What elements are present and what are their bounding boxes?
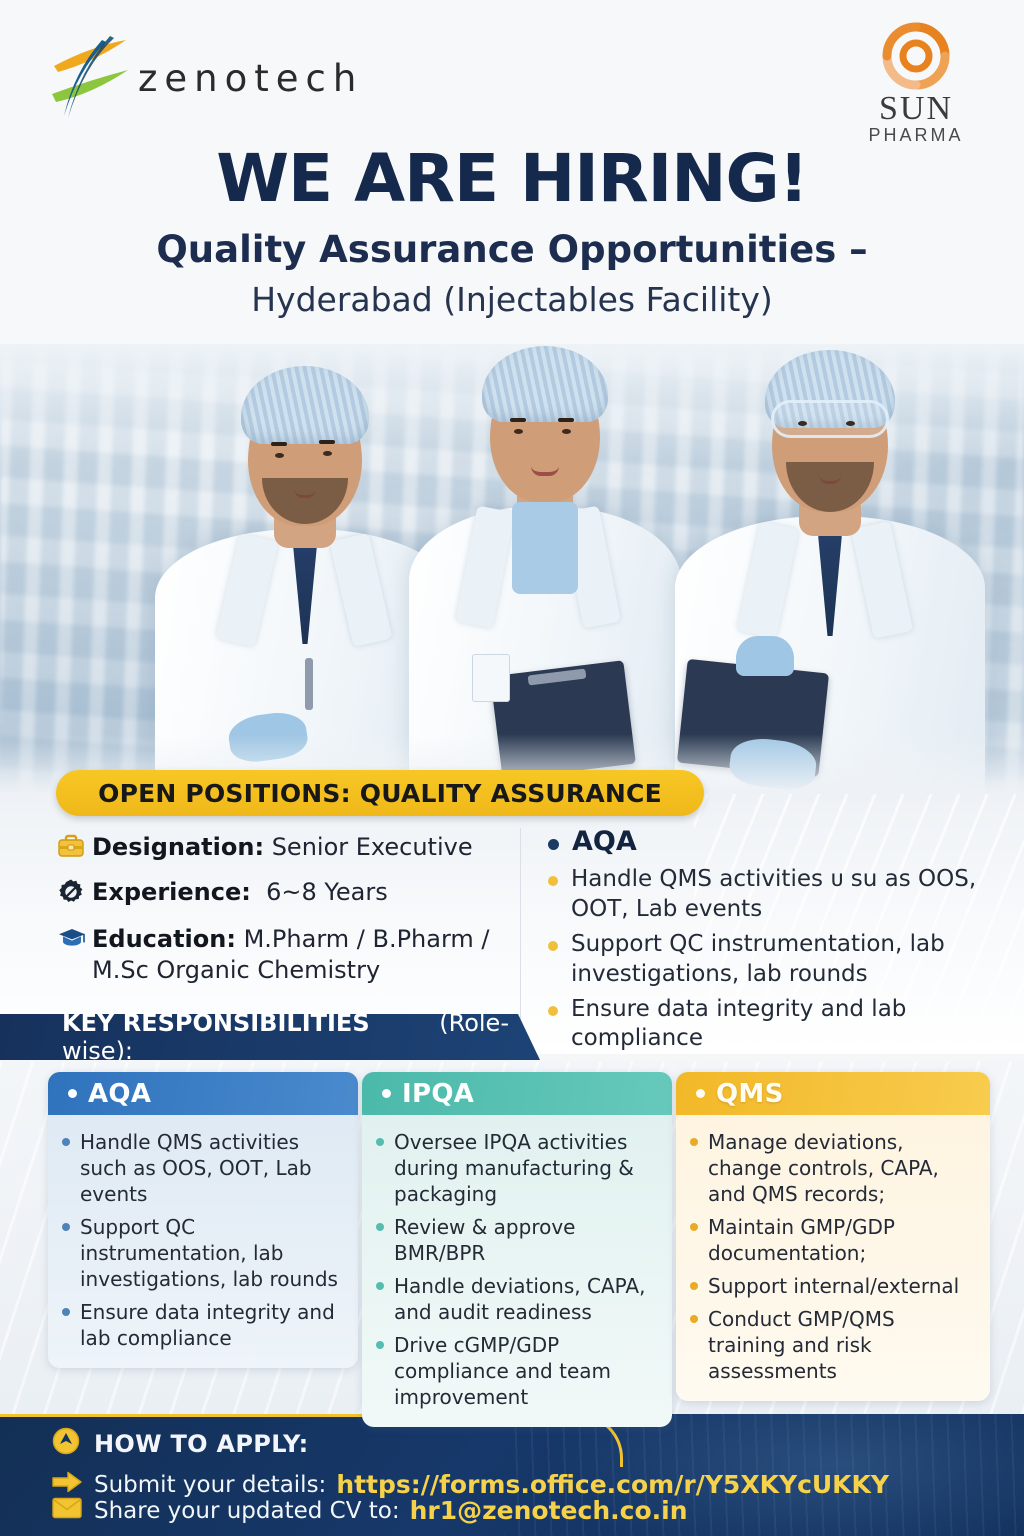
envelope-icon: [52, 1497, 94, 1524]
card-body-aqa: Handle QMS activities such as OOS, OOT, …: [48, 1115, 358, 1368]
how-to-apply-heading: HOW TO APPLY:: [94, 1430, 309, 1458]
list-item-text: Ensure data integrity and lab compliance: [80, 1299, 346, 1351]
page-subtitle-line2: Hyderabad (Injectables Facility): [0, 280, 1024, 319]
poster-header: zenotech SUN PHARMA WE ARE HIRING! Quali…: [0, 0, 1024, 344]
list-item-text: Handle QMS activities such as OOS, OOT, …: [80, 1129, 346, 1207]
bullet-dot-icon: [68, 1089, 77, 1098]
responsibility-card-ipqa: IPQA Oversee IPQA activities during manu…: [362, 1072, 672, 1427]
key-responsibilities-banner: KEY RESPONSIBILITIES (Role-wise):: [0, 1014, 540, 1060]
detail-value-experience: 6~8 Years: [266, 878, 388, 906]
open-positions-role-block: AQA Handle QMS activities ᴜ su as OOS, O…: [548, 826, 1010, 1059]
right-arrow-icon: [52, 1471, 94, 1498]
list-item-text: Maintain GMP/GDP documentation;: [708, 1214, 978, 1266]
bullet-dot-icon: [548, 941, 558, 951]
sun-pharma-logo: SUN PHARMA: [850, 18, 982, 142]
open-positions-banner: OPEN POSITIONS: QUALITY ASSURANCE: [56, 770, 704, 816]
zenotech-wordmark: zenotech: [138, 57, 363, 100]
detail-label-designation: Designation:: [92, 833, 264, 861]
share-cv-row: Share your updated CV to: hr1@zenotech.c…: [52, 1496, 688, 1525]
list-item: Oversee IPQA activities during manufactu…: [376, 1129, 660, 1207]
responsibility-card-aqa: AQA Handle QMS activities such as OOS, O…: [48, 1072, 358, 1368]
bullet-dot-icon: [548, 839, 559, 850]
graduation-cap-icon: [58, 924, 92, 955]
page-title: WE ARE HIRING!: [0, 140, 1024, 217]
bullet-dot-icon: [376, 1223, 384, 1231]
bullet-dot-icon: [696, 1089, 705, 1098]
role-point-text: Support QC instrumentation, lab investig…: [571, 930, 1010, 990]
page-subtitle-line1: Quality Assurance Opportunities –: [0, 228, 1024, 271]
submit-details-row: Submit your details: https://forms.offic…: [52, 1470, 889, 1499]
card-header-ipqa: IPQA: [362, 1072, 672, 1115]
column-divider: [520, 828, 521, 1034]
how-to-apply-heading-row: HOW TO APPLY:: [52, 1427, 309, 1460]
zenotech-mark-icon: [44, 36, 136, 120]
detail-text-experience: Experience: 6~8 Years: [92, 877, 388, 908]
list-item-text: Drive cGMP/GDP compliance and team impro…: [394, 1332, 660, 1410]
role-point-text: Handle QMS activities ᴜ su as OOS, OOT, …: [571, 865, 1010, 925]
bullet-dot-icon: [62, 1223, 70, 1231]
bullet-dot-icon: [62, 1138, 70, 1146]
person-right: [670, 354, 990, 794]
list-item-text: Handle deviations, CAPA, and audit readi…: [394, 1273, 660, 1325]
list-item-text: Conduct GMP/QMS training and risk assess…: [708, 1306, 978, 1384]
bullet-dot-icon: [376, 1138, 384, 1146]
position-details-list: Designation: Senior Executive Experience…: [58, 832, 510, 999]
gear-icon: [58, 877, 92, 910]
up-arrow-circle-icon: [52, 1427, 94, 1460]
detail-value-designation: Senior Executive: [272, 833, 473, 861]
card-header-aqa: AQA: [48, 1072, 358, 1115]
hiring-poster: zenotech SUN PHARMA WE ARE HIRING! Quali…: [0, 0, 1024, 1536]
list-item-text: Oversee IPQA activities during manufactu…: [394, 1129, 660, 1207]
role-title-row: AQA: [548, 826, 1010, 857]
sun-pharma-name: SUN: [850, 92, 982, 126]
bullet-dot-icon: [690, 1223, 698, 1231]
bullet-dot-icon: [382, 1089, 391, 1098]
card-body-ipqa: Oversee IPQA activities during manufactu…: [362, 1115, 672, 1427]
responsibility-card-qms: QMS Manage deviations, change controls, …: [676, 1072, 990, 1401]
bullet-dot-icon: [376, 1341, 384, 1349]
role-point: Handle QMS activities ᴜ su as OOS, OOT, …: [548, 865, 1010, 925]
list-item: Support QC instrumentation, lab investig…: [62, 1214, 346, 1292]
bullet-dot-icon: [548, 1006, 558, 1016]
role-title: AQA: [572, 826, 637, 857]
briefcase-icon: [58, 832, 92, 863]
list-item-text: Support QC instrumentation, lab investig…: [80, 1214, 346, 1292]
card-title-aqa: AQA: [88, 1079, 151, 1109]
sun-pharma-mark-icon: [878, 18, 954, 94]
list-item-text: Support internal/external: [708, 1273, 959, 1299]
bullet-dot-icon: [690, 1315, 698, 1323]
role-point: Support QC instrumentation, lab investig…: [548, 930, 1010, 990]
list-item: Manage deviations, change controls, CAPA…: [690, 1129, 978, 1207]
role-point-text: Ensure data integrity and lab compliance: [571, 995, 1010, 1055]
list-item: Conduct GMP/QMS training and risk assess…: [690, 1306, 978, 1384]
open-positions-banner-label: OPEN POSITIONS: QUALITY ASSURANCE: [98, 779, 662, 808]
list-item: Drive cGMP/GDP compliance and team impro…: [376, 1332, 660, 1410]
detail-label-education: Education:: [92, 925, 236, 953]
role-point: Ensure data integrity and lab compliance: [548, 995, 1010, 1055]
detail-row-experience: Experience: 6~8 Years: [58, 877, 510, 910]
list-item: Maintain GMP/GDP documentation;: [690, 1214, 978, 1266]
list-item-text: Manage deviations, change controls, CAPA…: [708, 1129, 978, 1207]
card-title-ipqa: IPQA: [402, 1079, 474, 1109]
person-center: [400, 344, 690, 794]
hr-email-link[interactable]: hr1@zenotech.co.in: [410, 1496, 688, 1525]
bullet-dot-icon: [376, 1282, 384, 1290]
list-item-text: Review & approve BMR/BPR: [394, 1214, 660, 1266]
detail-label-experience: Experience:: [92, 878, 251, 906]
detail-row-designation: Designation: Senior Executive: [58, 832, 510, 863]
zenotech-logo: zenotech: [44, 36, 344, 120]
card-title-qms: QMS: [716, 1079, 784, 1109]
detail-text-education: Education: M.Pharm / B.Pharm / M.Sc Orga…: [92, 924, 510, 985]
detail-text-designation: Designation: Senior Executive: [92, 832, 473, 863]
bullet-dot-icon: [690, 1282, 698, 1290]
list-item: Support internal/external: [690, 1273, 978, 1299]
list-item: Ensure data integrity and lab compliance: [62, 1299, 346, 1351]
detail-row-education: Education: M.Pharm / B.Pharm / M.Sc Orga…: [58, 924, 510, 985]
key-responsibilities-label: KEY RESPONSIBILITIES (Role-wise):: [62, 1009, 540, 1065]
bullet-dot-icon: [690, 1138, 698, 1146]
list-item: Handle deviations, CAPA, and audit readi…: [376, 1273, 660, 1325]
application-form-link[interactable]: https://forms.office.com/r/Y5XKYcUKKY: [336, 1470, 889, 1499]
list-item: Review & approve BMR/BPR: [376, 1214, 660, 1266]
bullet-dot-icon: [62, 1308, 70, 1316]
share-cv-label: Share your updated CV to:: [94, 1498, 400, 1524]
list-item: Handle QMS activities such as OOS, OOT, …: [62, 1129, 346, 1207]
card-header-qms: QMS: [676, 1072, 990, 1115]
card-body-qms: Manage deviations, change controls, CAPA…: [676, 1115, 990, 1401]
bullet-dot-icon: [548, 876, 558, 886]
submit-details-label: Submit your details:: [94, 1472, 326, 1498]
team-photo: [0, 344, 1024, 794]
